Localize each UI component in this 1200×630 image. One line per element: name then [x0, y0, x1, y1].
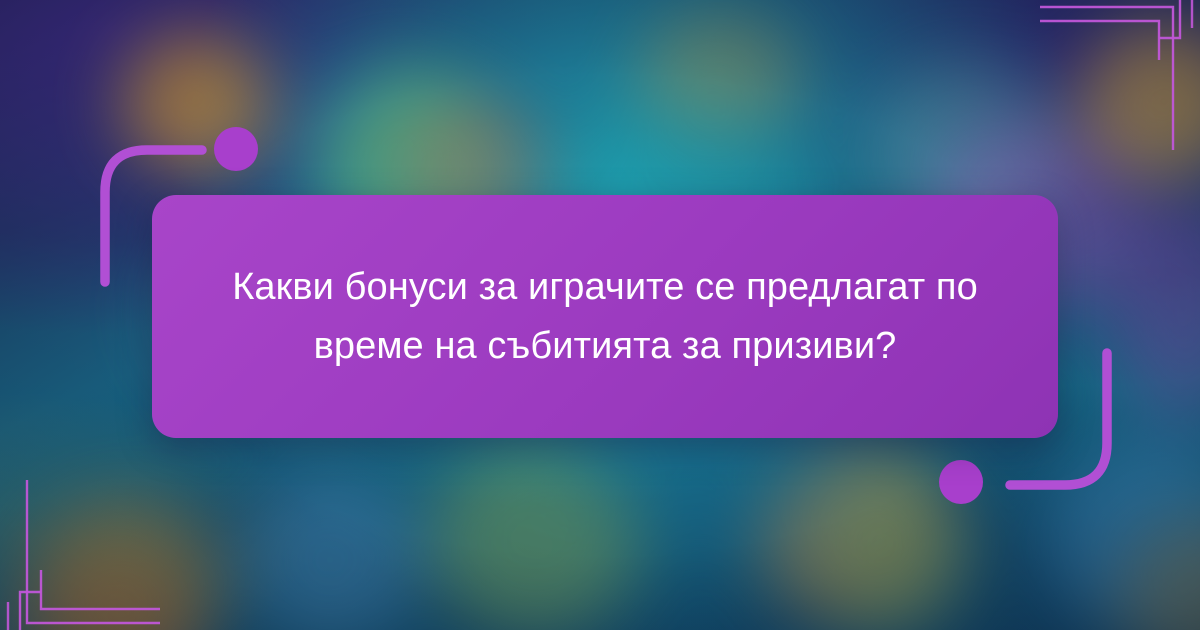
background-blob: [1050, 440, 1200, 630]
background-blob: [760, 440, 960, 630]
background-blob: [0, 560, 200, 630]
corner-lines-bottom-left-icon: [0, 460, 160, 630]
corner-lines-top-right-icon: [1040, 0, 1200, 170]
background-blob: [640, 10, 800, 140]
background-blob: [430, 440, 640, 630]
question-card: Какви бонуси за играчите се предлагат по…: [152, 195, 1058, 438]
background-blob: [1120, 520, 1200, 630]
question-card-graphic: Какви бонуси за играчите се предлагат по…: [0, 0, 1200, 630]
question-text: Какви бонуси за играчите се предлагат по…: [205, 258, 1005, 376]
background-blob: [240, 470, 420, 630]
background-blob: [1080, 20, 1200, 180]
background-blob: [1110, 200, 1200, 420]
background-blob: [30, 500, 220, 630]
accent-dot-bottom-icon: [939, 460, 983, 504]
accent-dot-top-icon: [214, 127, 258, 171]
